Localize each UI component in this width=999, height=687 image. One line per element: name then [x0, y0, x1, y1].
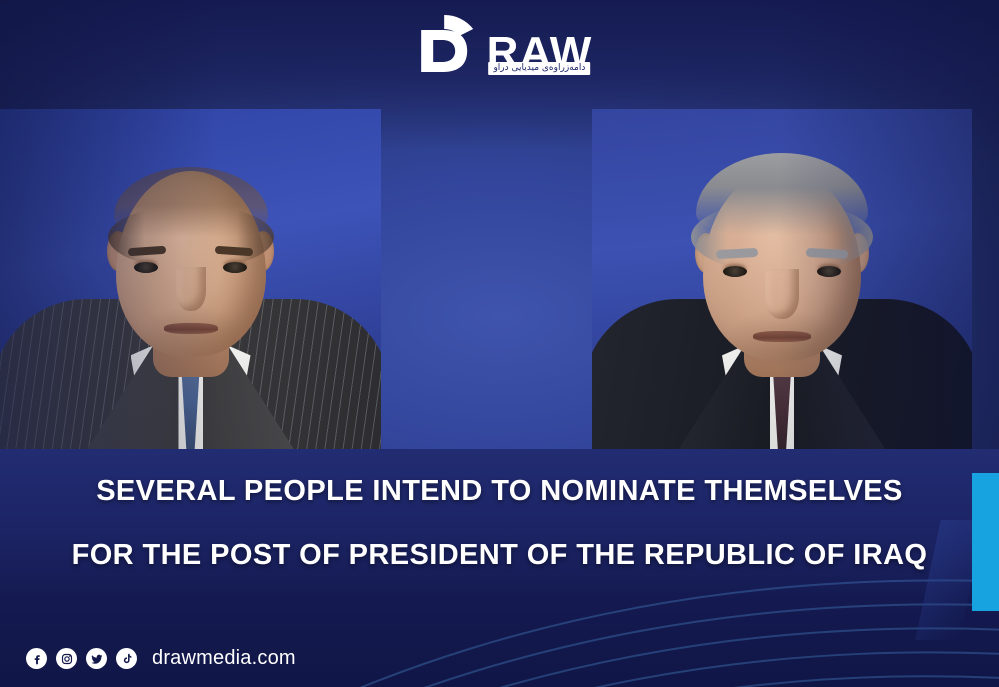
facebook-icon[interactable] — [26, 648, 47, 669]
draw-logo[interactable]: RAW دامەزراوەی میدیایی دراو — [407, 14, 593, 88]
draw-logo-subtitle: دامەزراوەی میدیایی دراو — [488, 62, 590, 75]
draw-logo-mark-icon — [407, 14, 481, 88]
headline-line-2: FOR THE POST OF PRESIDENT OF THE REPUBLI… — [0, 541, 999, 570]
tiktok-icon[interactable] — [116, 648, 137, 669]
news-graphic-poster: RAW دامەزراوەی میدیایی دراو — [0, 0, 999, 687]
website-label[interactable]: drawmedia.com — [152, 647, 296, 670]
footer-bar: drawmedia.com — [26, 647, 296, 670]
headline-line-1: SEVERAL PEOPLE INTEND TO NOMINATE THEMSE… — [96, 475, 903, 507]
instagram-icon[interactable] — [56, 648, 77, 669]
headline-text: SEVERAL PEOPLE INTEND TO NOMINATE THEMSE… — [0, 477, 999, 570]
twitter-icon[interactable] — [86, 648, 107, 669]
